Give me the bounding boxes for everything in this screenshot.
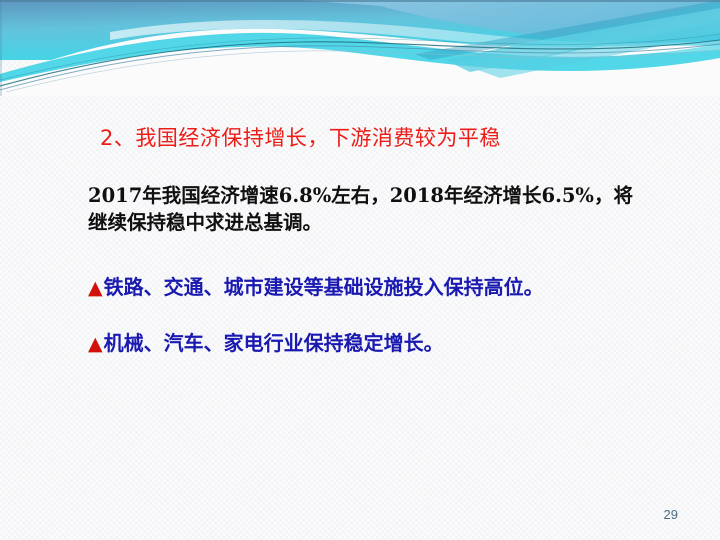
slide-title: 2、我国经济保持增长，下游消费较为平稳: [100, 122, 501, 152]
triangle-bullet-icon: ▲: [88, 333, 103, 355]
triangle-bullet-icon: ▲: [88, 277, 103, 299]
bullet-item-1: ▲铁路、交通、城市建设等基础设施投入保持高位。: [88, 271, 544, 300]
page-number: 29: [664, 507, 678, 522]
bullet-item-2-label: 机械、汽车、家电行业保持稳定增长。: [104, 331, 444, 355]
presentation-slide: 2、我国经济保持增长，下游消费较为平稳 2017年我国经济增速6.8%左右，20…: [0, 0, 720, 540]
bullet-item-1-label: 铁路、交通、城市建设等基础设施投入保持高位。: [104, 275, 544, 299]
slide-content: 2、我国经济保持增长，下游消费较为平稳 2017年我国经济增速6.8%左右，20…: [0, 0, 720, 540]
body-paragraph: 2017年我国经济增速6.8%左右，2018年经济增长6.5%，将继续保持稳中求…: [88, 183, 648, 237]
bullet-item-2: ▲机械、汽车、家电行业保持稳定增长。: [88, 327, 444, 356]
